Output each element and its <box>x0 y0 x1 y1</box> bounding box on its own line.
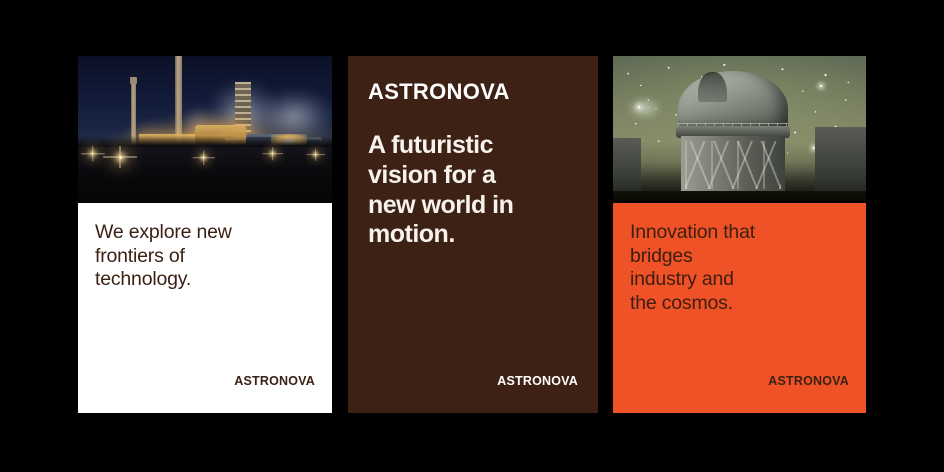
poster-card-industrial[interactable]: We explore new frontiers of technology. … <box>78 56 332 413</box>
starburst-light-right <box>272 152 274 154</box>
poster-grid-canvas: We explore new frontiers of technology. … <box>0 0 944 472</box>
observatory-dome-starfield-photo <box>613 56 866 203</box>
industrial-refinery-night-photo <box>78 56 332 203</box>
brand-wordmark: ASTRONOVA <box>234 375 315 388</box>
dome-shutter-slit <box>698 72 726 102</box>
brand-panel: ASTRONOVA A futuristic vision for a new … <box>348 56 598 413</box>
caption-panel-industrial: We explore new frontiers of technology. … <box>78 203 332 413</box>
caption-panel-observatory: Innovation that bridges industry and the… <box>613 203 866 413</box>
dome-drum-body <box>681 136 786 197</box>
foreground-ground <box>613 191 866 203</box>
brand-wordmark: ASTRONOVA <box>497 375 578 388</box>
outbuilding-left <box>613 138 641 197</box>
starburst-light-far-left <box>91 152 93 154</box>
observatory-dome <box>674 71 793 197</box>
dome-truss-framework <box>685 141 781 188</box>
poster-card-typographic[interactable]: ASTRONOVA A futuristic vision for a new … <box>348 56 598 413</box>
card-lede: A futuristic vision for a new world in m… <box>368 131 578 250</box>
poster-card-observatory[interactable]: Innovation that bridges industry and the… <box>613 56 866 413</box>
foreground-ground <box>78 147 332 203</box>
brand-wordmark: ASTRONOVA <box>768 375 849 388</box>
outbuilding-right <box>815 127 866 198</box>
starburst-light-left <box>119 156 122 159</box>
brand-title: ASTRONOVA <box>368 81 578 103</box>
card-headline: Innovation that bridges industry and the… <box>630 221 849 315</box>
card-headline: We explore new frontiers of technology. <box>95 221 315 292</box>
